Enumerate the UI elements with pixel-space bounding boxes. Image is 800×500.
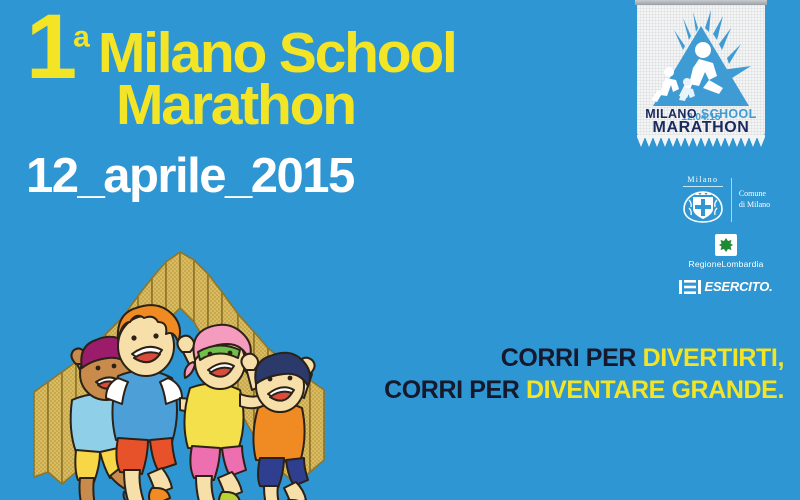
milano-crest-icon: [682, 190, 724, 224]
comune-label-line-1: Comune: [739, 189, 770, 200]
child-2-shorts: [116, 438, 148, 474]
tagline-block: CORRI PER DIVERTIRTI, CORRI PER DIVENTAR…: [384, 342, 784, 406]
comune-milano-rule: [683, 186, 723, 187]
illustration-svg: [14, 222, 344, 500]
poster-root: 1a Milano School Marathon 12_aprile_2015: [0, 0, 800, 500]
sponsor-esercito: ESERCITO.: [660, 279, 792, 294]
title-line-1: Milano School: [90, 8, 456, 81]
event-logo-banner: 12.04.15 MILANO SCHOOL MARATHON: [633, 0, 769, 152]
regione-lombardia-label: RegioneLombardia: [688, 259, 763, 269]
comune-milano-left: Milano: [682, 175, 731, 224]
tagline-line-2: CORRI PER DIVENTARE GRANDE.: [384, 374, 784, 406]
child-4-shorts: [258, 458, 284, 488]
tagline-line-1: CORRI PER DIVERTIRTI,: [384, 342, 784, 374]
headline-block: 1a Milano School Marathon: [26, 8, 566, 134]
ordinal-suffix: a: [73, 20, 90, 53]
children-illustration: [14, 222, 344, 500]
comune-milano-wordmark: Milano: [687, 175, 718, 184]
ordinal-number: 1a: [26, 8, 90, 87]
rosa-camuna-icon: [718, 237, 734, 253]
tagline-line-2-yellow: DIVENTARE GRANDE.: [526, 376, 784, 404]
esercito-label: ESERCITO.: [701, 279, 772, 294]
title-line-2: Marathon: [26, 77, 566, 134]
tagline-line-2-dark: CORRI PER: [384, 376, 519, 404]
banner-zigzag-edge: [637, 135, 765, 149]
tagline-line-1-dark: CORRI PER: [501, 344, 636, 372]
ordinal-digit: 1: [26, 0, 73, 98]
child-3-shirt: [184, 383, 243, 450]
logo-name-marathon: MARATHON: [637, 119, 765, 137]
rosa-camuna-box: [715, 234, 737, 256]
event-date: 12_aprile_2015: [26, 152, 354, 201]
sponsor-comune-di-milano: Milano Comune di Milano: [660, 175, 792, 224]
comune-milano-right: Comune di Milano: [732, 189, 770, 211]
child-3-shorts: [190, 446, 220, 480]
esercito-emblem-icon: [679, 280, 701, 294]
tagline-line-1-yellow: DIVERTIRTI,: [643, 344, 784, 372]
comune-label-line-2: di Milano: [739, 200, 770, 211]
sponsor-logos: Milano Comune di Milano: [660, 175, 792, 304]
sponsor-regione-lombardia: RegioneLombardia: [660, 234, 792, 269]
